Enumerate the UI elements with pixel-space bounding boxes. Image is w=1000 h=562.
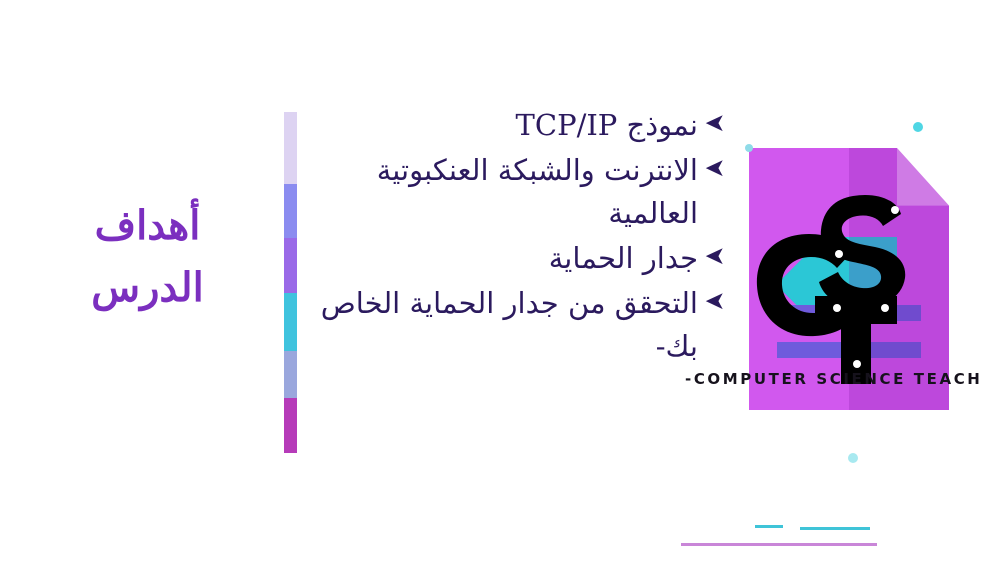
divider-segment-cyan (284, 293, 297, 351)
list-item: ➤ جدار الحماية (312, 237, 732, 280)
divider-segment-lavender-pale (284, 112, 297, 184)
decorative-line (800, 527, 870, 530)
slide-title-line-2: الدرس (40, 257, 255, 319)
slide-title-line-1: أهداف (40, 195, 255, 257)
objectives-bullet-list: ➤ نموذج TCP/IP ➤ الانترنت والشبكة العنكب… (312, 104, 732, 369)
decorative-dot-icon (745, 144, 753, 152)
decorative-dot-icon (848, 453, 858, 463)
divider-segment-slate-blue (284, 351, 297, 399)
list-item: ➤ الانترنت والشبكة العنكبوتية العالمية (312, 149, 732, 235)
bullet-text: التحقق من جدار الحماية الخاص بك- (312, 282, 698, 368)
vertical-color-divider (284, 112, 297, 453)
arrow-bullet-icon: ➤ (698, 237, 732, 274)
arrow-bullet-icon: ➤ (698, 282, 732, 319)
arrow-bullet-icon: ➤ (698, 149, 732, 186)
decorative-dot-icon (913, 122, 923, 132)
divider-segment-periwinkle (284, 184, 297, 239)
bullet-text: جدار الحماية (312, 237, 698, 280)
list-item: ➤ نموذج TCP/IP (312, 104, 732, 147)
presentation-slide: أهداف الدرس ➤ نموذج TCP/IP ➤ الانترنت وا… (0, 0, 1000, 562)
decorative-line (755, 525, 783, 528)
decorative-line (681, 543, 877, 546)
logo-caption: -COMPUTER SCIENCE TEACH (685, 370, 1000, 388)
list-item: ➤ التحقق من جدار الحماية الخاص بك- (312, 282, 732, 368)
slide-title: أهداف الدرس (40, 195, 255, 319)
divider-segment-magenta (284, 398, 297, 453)
divider-segment-violet (284, 238, 297, 293)
bullet-text: نموذج TCP/IP (312, 104, 698, 147)
arrow-bullet-icon: ➤ (698, 104, 732, 141)
bullet-text: الانترنت والشبكة العنكبوتية العالمية (312, 149, 698, 235)
